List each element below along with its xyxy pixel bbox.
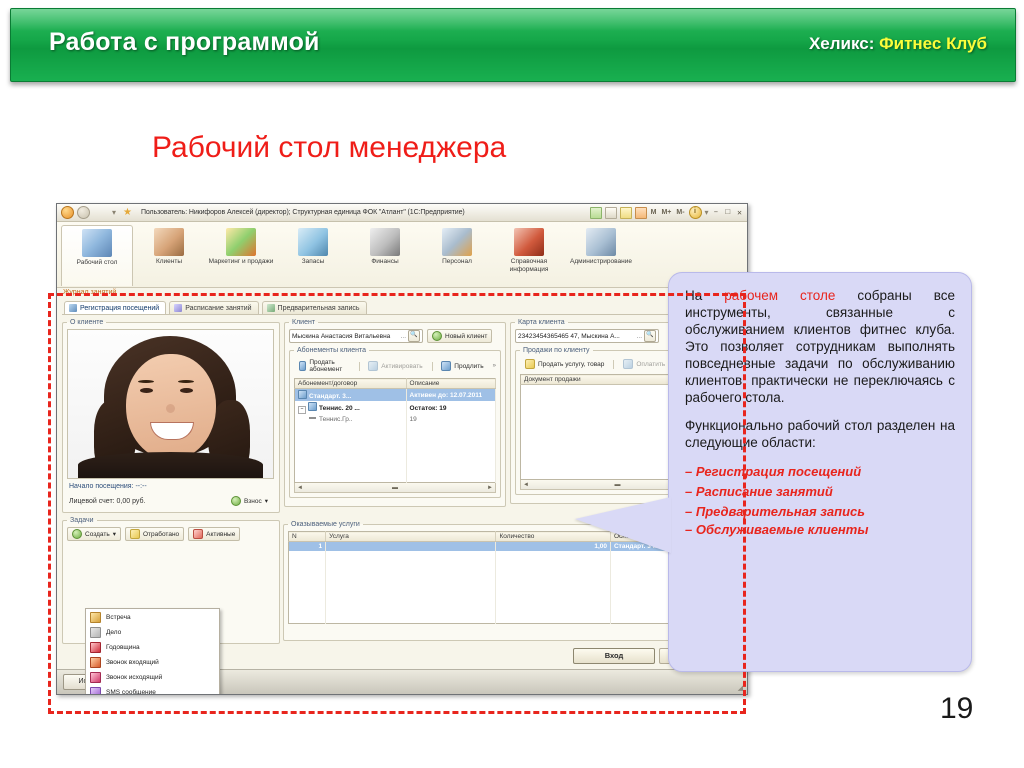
desktop-page: Журнал занятий Регистрация посещений Рас…: [57, 288, 747, 672]
page-number: 19: [940, 692, 973, 726]
finance-icon: [370, 228, 400, 256]
staff-icon: [442, 228, 472, 256]
menu-label-call-out: Звонок исходящий: [106, 674, 162, 681]
ribbon-item-staff[interactable]: Персонал: [421, 225, 493, 266]
search-icon[interactable]: 🔍: [408, 330, 420, 342]
ribbon-item-desktop[interactable]: Рабочий стол: [61, 225, 133, 286]
titlebar-controls: M M+ M- i ▾ – □ ✕: [590, 204, 744, 221]
new-client-button[interactable]: Новый клиент: [427, 329, 492, 343]
registration-icon: [69, 304, 77, 312]
subscriptions-toolbar: Продать абонемент Активировать Продлить: [294, 357, 496, 375]
column-header-n: N: [289, 532, 326, 542]
menu-item-call-in[interactable]: Звонок входящий: [86, 655, 219, 670]
case-icon: [90, 627, 101, 638]
maximize-button[interactable]: □: [723, 208, 732, 217]
menu-label-case: Дело: [106, 629, 121, 636]
callout-bullet-schedule: – Расписание занятий: [685, 482, 955, 501]
scroll-left-icon[interactable]: ◄: [296, 485, 304, 491]
forward-icon[interactable]: [77, 206, 90, 219]
create-task-dropdown-menu[interactable]: Встреча Дело Годовщина Звонок входя: [85, 608, 220, 695]
chevron-down-icon: ▾: [113, 530, 116, 538]
sell-service-button[interactable]: Продать услугу, товар: [520, 357, 609, 371]
tab-label-prebooking: Предварительная запись: [278, 305, 360, 312]
tasks-toolbar: Создать ▾ Отработано Активные: [67, 527, 275, 541]
cell-service: [326, 542, 496, 552]
ribbon-label-marketing: Маркетинг и продажи: [205, 258, 277, 266]
plus-circle-icon: [432, 331, 442, 341]
header-title: Работа с программой: [49, 28, 320, 57]
ribbon-item-reference[interactable]: Справочная информация: [493, 225, 565, 274]
brand-label: Хеликс: Фитнес Клуб: [809, 34, 987, 54]
client-card-input[interactable]: 23423454365465 47, Мыскина А... ... 🔍: [515, 329, 659, 343]
table-row[interactable]: Стандарт. 3... Активен до: 12.07.2011: [295, 389, 496, 402]
activate-subscription-label: Активировать: [381, 363, 422, 370]
table-row-empty: [295, 424, 496, 483]
scroll-thumb[interactable]: ▬: [391, 485, 399, 491]
ribbon-item-finance[interactable]: Финансы: [349, 225, 421, 266]
column-header-description: Описание: [406, 379, 495, 389]
cell-n: 1: [289, 542, 326, 552]
client-card-value: 23423454365465 47, Мыскина А...: [518, 333, 635, 340]
callout-text-after: собраны все инструменты, связанные с обс…: [685, 288, 955, 405]
call-in-icon: [90, 657, 101, 668]
table-row-empty: [289, 551, 719, 624]
ribbon-item-stock[interactable]: Запасы: [277, 225, 349, 266]
brand-prefix: Хеликс:: [809, 34, 874, 53]
ribbon-item-admin[interactable]: Администрирование: [565, 225, 637, 266]
section-ribbon: Рабочий стол Клиенты Маркетинг и продажи…: [57, 222, 747, 288]
payment-icon: [623, 359, 633, 369]
menu-item-case[interactable]: Дело: [86, 625, 219, 640]
cell-subscription-name: Теннис.Гр..: [295, 415, 407, 424]
callout-paragraph-2: Функционально рабочий стол разделен на с…: [685, 417, 955, 451]
active-tasks-button[interactable]: Активные: [188, 527, 240, 541]
activate-subscription-button[interactable]: Активировать: [363, 359, 427, 373]
active-tasks-label: Активные: [206, 531, 235, 538]
menu-item-call-out[interactable]: Звонок исходящий: [86, 670, 219, 685]
client-card-legend: Карта клиента: [515, 319, 568, 326]
reference-icon: [514, 228, 544, 256]
callout-bullet-prebooking: – Предварительная запись: [685, 502, 955, 521]
subscriptions-horizontal-scrollbar[interactable]: ◄ ▬ ►: [294, 483, 496, 493]
titlebar-nav-group: [57, 206, 90, 219]
menu-item-meeting[interactable]: Встреча: [86, 610, 219, 625]
scroll-thumb[interactable]: ▬: [614, 482, 622, 488]
page-tabs: Регистрация посещений Расписание занятий…: [62, 301, 742, 315]
sms-icon: [90, 687, 101, 695]
cell-subscription-desc: 19: [406, 415, 495, 424]
client-name-value: Мыскина Анастасия Витальевна: [292, 333, 399, 340]
scroll-right-icon[interactable]: ►: [486, 485, 494, 491]
meeting-icon: [90, 612, 101, 623]
sell-service-icon: [525, 359, 535, 369]
tab-registration[interactable]: Регистрация посещений: [64, 301, 166, 314]
subscriptions-table[interactable]: Абонемент/договор Описание Стандарт. 3..…: [294, 378, 496, 483]
overflow-chevron-icon[interactable]: »: [493, 363, 496, 369]
report-icon[interactable]: [635, 207, 647, 219]
ribbon-item-marketing[interactable]: Маркетинг и продажи: [205, 225, 277, 266]
anniversary-icon: [90, 642, 101, 653]
column-header-service: Услуга: [326, 532, 496, 542]
callout-bubble: На рабочем столе собраны все инструменты…: [668, 272, 972, 672]
callout-bullet-registration: – Регистрация посещений: [685, 462, 955, 481]
cell-subscription-desc: Остаток: 19: [406, 401, 495, 415]
done-tasks-label: Отработано: [143, 531, 179, 538]
visit-start-label: Начало посещения: --:--: [69, 483, 275, 490]
callout-paragraph-1: На рабочем столе собраны все инструменты…: [685, 287, 955, 406]
scroll-left-icon[interactable]: ◄: [522, 482, 530, 488]
callout-tail: [575, 497, 671, 553]
pay-label: Оплатить: [636, 361, 665, 368]
info-icon[interactable]: i: [689, 206, 702, 219]
check-icon: [130, 529, 140, 539]
active-icon: [193, 529, 203, 539]
subscription-icon: [298, 390, 307, 399]
tab-schedule[interactable]: Расписание занятий: [169, 301, 258, 314]
tasks-group: Задачи Создать ▾ Отработано: [62, 517, 280, 644]
subscriptions-group: Абонементы клиента Продать абонемент Акт…: [289, 347, 501, 498]
table-row[interactable]: –Теннис. 20 ... Остаток: 19: [295, 401, 496, 415]
sell-subscription-label: Продать абонемент: [309, 359, 349, 373]
marker-m-plus-button[interactable]: M+: [660, 209, 672, 216]
favorites-star-icon[interactable]: ★: [123, 208, 132, 218]
column-left: О клиенте Начало посещения: --:--: [62, 319, 280, 648]
back-icon[interactable]: [61, 206, 74, 219]
column-header-sales-doc: Документ продажи: [521, 375, 679, 385]
marketing-icon: [226, 228, 256, 256]
chevron-down-icon[interactable]: ▾: [112, 208, 116, 217]
app-screenshot-window: ▾ ★ Пользователь: Никифоров Алексей (дир…: [56, 203, 748, 695]
sell-subscription-button[interactable]: Продать абонемент: [294, 357, 355, 375]
ribbon-label-clients: Клиенты: [133, 258, 205, 266]
ribbon-label-finance: Финансы: [349, 258, 421, 266]
toolbar-divider: [432, 362, 433, 371]
extend-icon: [441, 361, 451, 371]
entry-button[interactable]: Вход: [573, 648, 655, 664]
pay-button[interactable]: Оплатить: [618, 357, 670, 371]
resize-grip-icon[interactable]: ◢: [738, 684, 743, 692]
plus-circle-icon: [231, 496, 241, 506]
extend-subscription-button[interactable]: Продлить: [436, 359, 488, 373]
toolbar-divider: [359, 362, 360, 371]
window-title-text: Пользователь: Никифоров Алексей (директо…: [141, 209, 465, 216]
admin-icon: [586, 228, 616, 256]
cell-subscription-desc: Активен до: 12.07.2011: [406, 389, 495, 402]
ribbon-item-clients[interactable]: Клиенты: [133, 225, 205, 266]
ribbon-label-stock: Запасы: [277, 258, 349, 266]
fee-button[interactable]: Взнос ▾: [226, 494, 273, 508]
ribbon-label-desktop: Рабочий стол: [62, 259, 132, 267]
schedule-icon: [174, 304, 182, 312]
create-task-label: Создать: [85, 531, 110, 538]
journal-caption: Журнал занятий: [63, 289, 116, 296]
ellipsis-icon[interactable]: ...: [635, 333, 644, 340]
child-item-icon: [309, 417, 316, 419]
ribbon-label-admin: Администрирование: [565, 258, 637, 266]
table-row[interactable]: Теннис.Гр.. 19: [295, 415, 496, 424]
chevron-down-icon: ▾: [265, 497, 268, 505]
done-tasks-button[interactable]: Отработано: [125, 527, 184, 541]
cell-subscription-name: Стандарт. 3...: [295, 389, 407, 402]
expand-icon[interactable]: –: [298, 406, 306, 414]
menu-label-sms: SMS сообщение: [106, 689, 156, 695]
sell-icon: [299, 361, 306, 371]
account-row: Лицевой счет: 0,00 руб. Взнос ▾: [69, 494, 273, 508]
account-balance-label: Лицевой счет: 0,00 руб.: [69, 498, 145, 505]
new-client-label: Новый клиент: [445, 333, 487, 340]
callout-highlight: рабочем столе: [724, 288, 835, 303]
call-out-icon: [90, 672, 101, 683]
client-group: Клиент Мыскина Анастасия Витальевна ... …: [284, 319, 506, 507]
tab-label-schedule: Расписание занятий: [185, 305, 251, 312]
ribbon-label-staff: Персонал: [421, 258, 493, 266]
menu-item-anniversary[interactable]: Годовщина: [86, 640, 219, 655]
prebooking-icon: [267, 304, 275, 312]
subscriptions-legend: Абонементы клиента: [294, 347, 369, 354]
menu-label-meeting: Встреча: [106, 614, 131, 621]
stock-icon: [298, 228, 328, 256]
calculator-icon[interactable]: [605, 207, 617, 219]
close-button[interactable]: ✕: [735, 208, 744, 218]
sales-legend: Продажи по клиенту: [520, 347, 593, 354]
app-titlebar: ▾ ★ Пользователь: Никифоров Алексей (дир…: [57, 204, 747, 222]
extend-subscription-label: Продлить: [454, 363, 483, 370]
callout-bullet-clients: – Обслуживаемые клиенты: [685, 520, 955, 539]
ribbon-label-reference: Справочная информация: [493, 258, 565, 274]
cell-subscription-name: –Теннис. 20 ...: [295, 401, 407, 415]
search-icon[interactable]: 🔍: [644, 330, 656, 342]
marker-m-button[interactable]: M: [650, 209, 658, 216]
about-client-legend: О клиенте: [67, 319, 106, 326]
plus-circle-icon: [72, 529, 82, 539]
column-header-subscription: Абонемент/договор: [295, 379, 407, 389]
create-task-button[interactable]: Создать ▾: [67, 527, 121, 541]
client-photo: [67, 329, 274, 479]
client-legend: Клиент: [289, 319, 318, 326]
menu-label-anniversary: Годовщина: [106, 644, 140, 651]
fee-button-label: Взнос: [244, 498, 262, 505]
services-legend: Оказываемые услуги: [288, 521, 363, 528]
table-header-row: Абонемент/договор Описание: [295, 379, 496, 389]
menu-item-sms[interactable]: SMS сообщение: [86, 685, 219, 695]
minimize-button[interactable]: –: [712, 208, 721, 217]
clients-icon: [154, 228, 184, 256]
client-search-input[interactable]: Мыскина Анастасия Витальевна ... 🔍: [289, 329, 423, 343]
tasks-legend: Задачи: [67, 517, 97, 524]
calendar-icon[interactable]: [590, 207, 602, 219]
notes-icon[interactable]: [620, 207, 632, 219]
marker-m-minus-button[interactable]: M-: [675, 209, 685, 216]
tab-label-registration: Регистрация посещений: [80, 305, 159, 312]
sell-service-label: Продать услугу, товар: [538, 361, 604, 368]
activate-icon: [368, 361, 378, 371]
brand-name: Фитнес Клуб: [879, 34, 987, 53]
ellipsis-icon[interactable]: ...: [399, 333, 408, 340]
page-title: Рабочий стол менеджера: [152, 131, 506, 165]
callout-text-before: На: [685, 288, 724, 303]
tab-prebooking[interactable]: Предварительная запись: [262, 301, 367, 314]
about-client-group: О клиенте Начало посещения: --:--: [62, 319, 280, 513]
toolbar-divider: [613, 360, 614, 369]
titlebar-menu-chevron-icon[interactable]: ▾: [705, 208, 709, 217]
menu-label-call-in: Звонок входящий: [106, 659, 159, 666]
slide-header-banner: Работа с программой Хеликс: Фитнес Клуб: [10, 8, 1016, 82]
desktop-icon: [82, 229, 112, 257]
subscription-icon: [308, 402, 317, 411]
